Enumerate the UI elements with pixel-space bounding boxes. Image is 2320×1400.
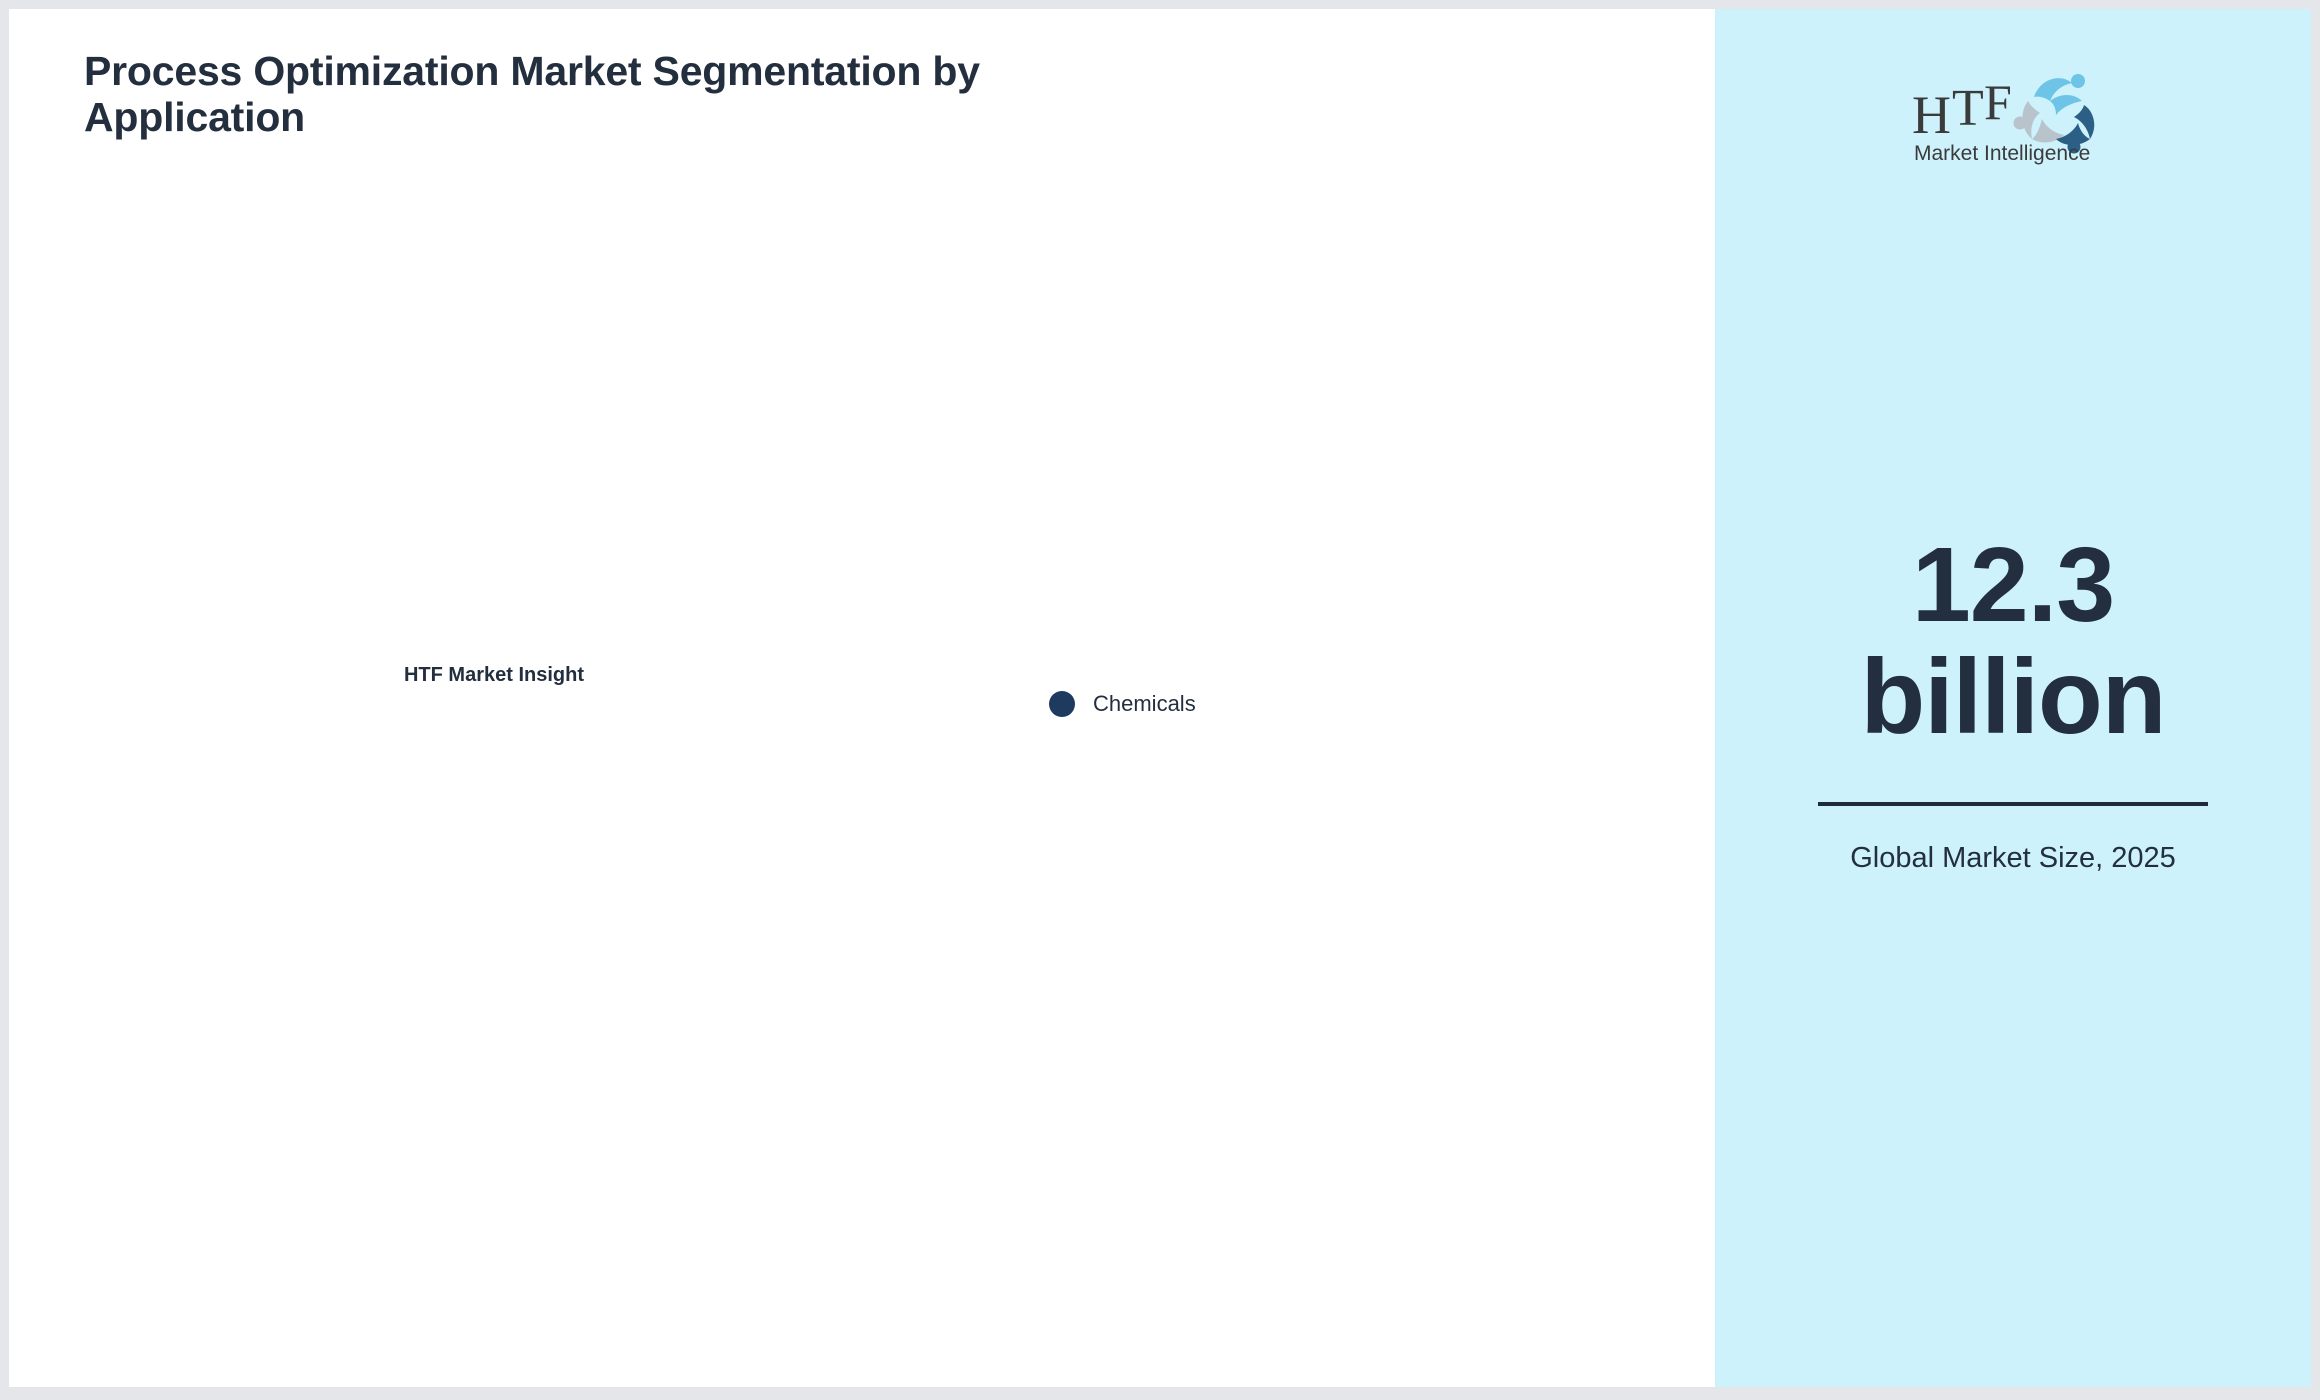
legend-swatch-icon [1049,691,1075,717]
chart-legend: Chemicals [1049,691,1196,717]
stat-value: 12.3 billion [1775,529,2251,754]
htf-market-intelligence-logo: H T F Market Inte [1908,57,2118,167]
stat-caption: Global Market Size, 2025 [1775,842,2251,876]
chart-panel: Process Optimization Market Segmentation… [9,9,1715,1387]
svg-text:F: F [1984,74,2012,130]
infographic-card: Process Optimization Market Segmentation… [9,9,2311,1387]
donut-chart: HTF Market Insight Chemicals [9,9,1715,1387]
legend-item-chemicals[interactable]: Chemicals [1049,691,1196,717]
svg-text:Market Intelligence: Market Intelligence [1914,142,2090,165]
donut-center-label: HTF Market Insight [339,662,649,688]
stat-divider [1818,802,2208,806]
stat-block: 12.3 billion Global Market Size, 2025 [1715,529,2311,875]
svg-text:T: T [1952,80,1984,137]
stat-panel: H T F Market Inte [1715,9,2311,1387]
legend-label: Chemicals [1093,691,1196,717]
svg-text:H: H [1912,85,1951,145]
